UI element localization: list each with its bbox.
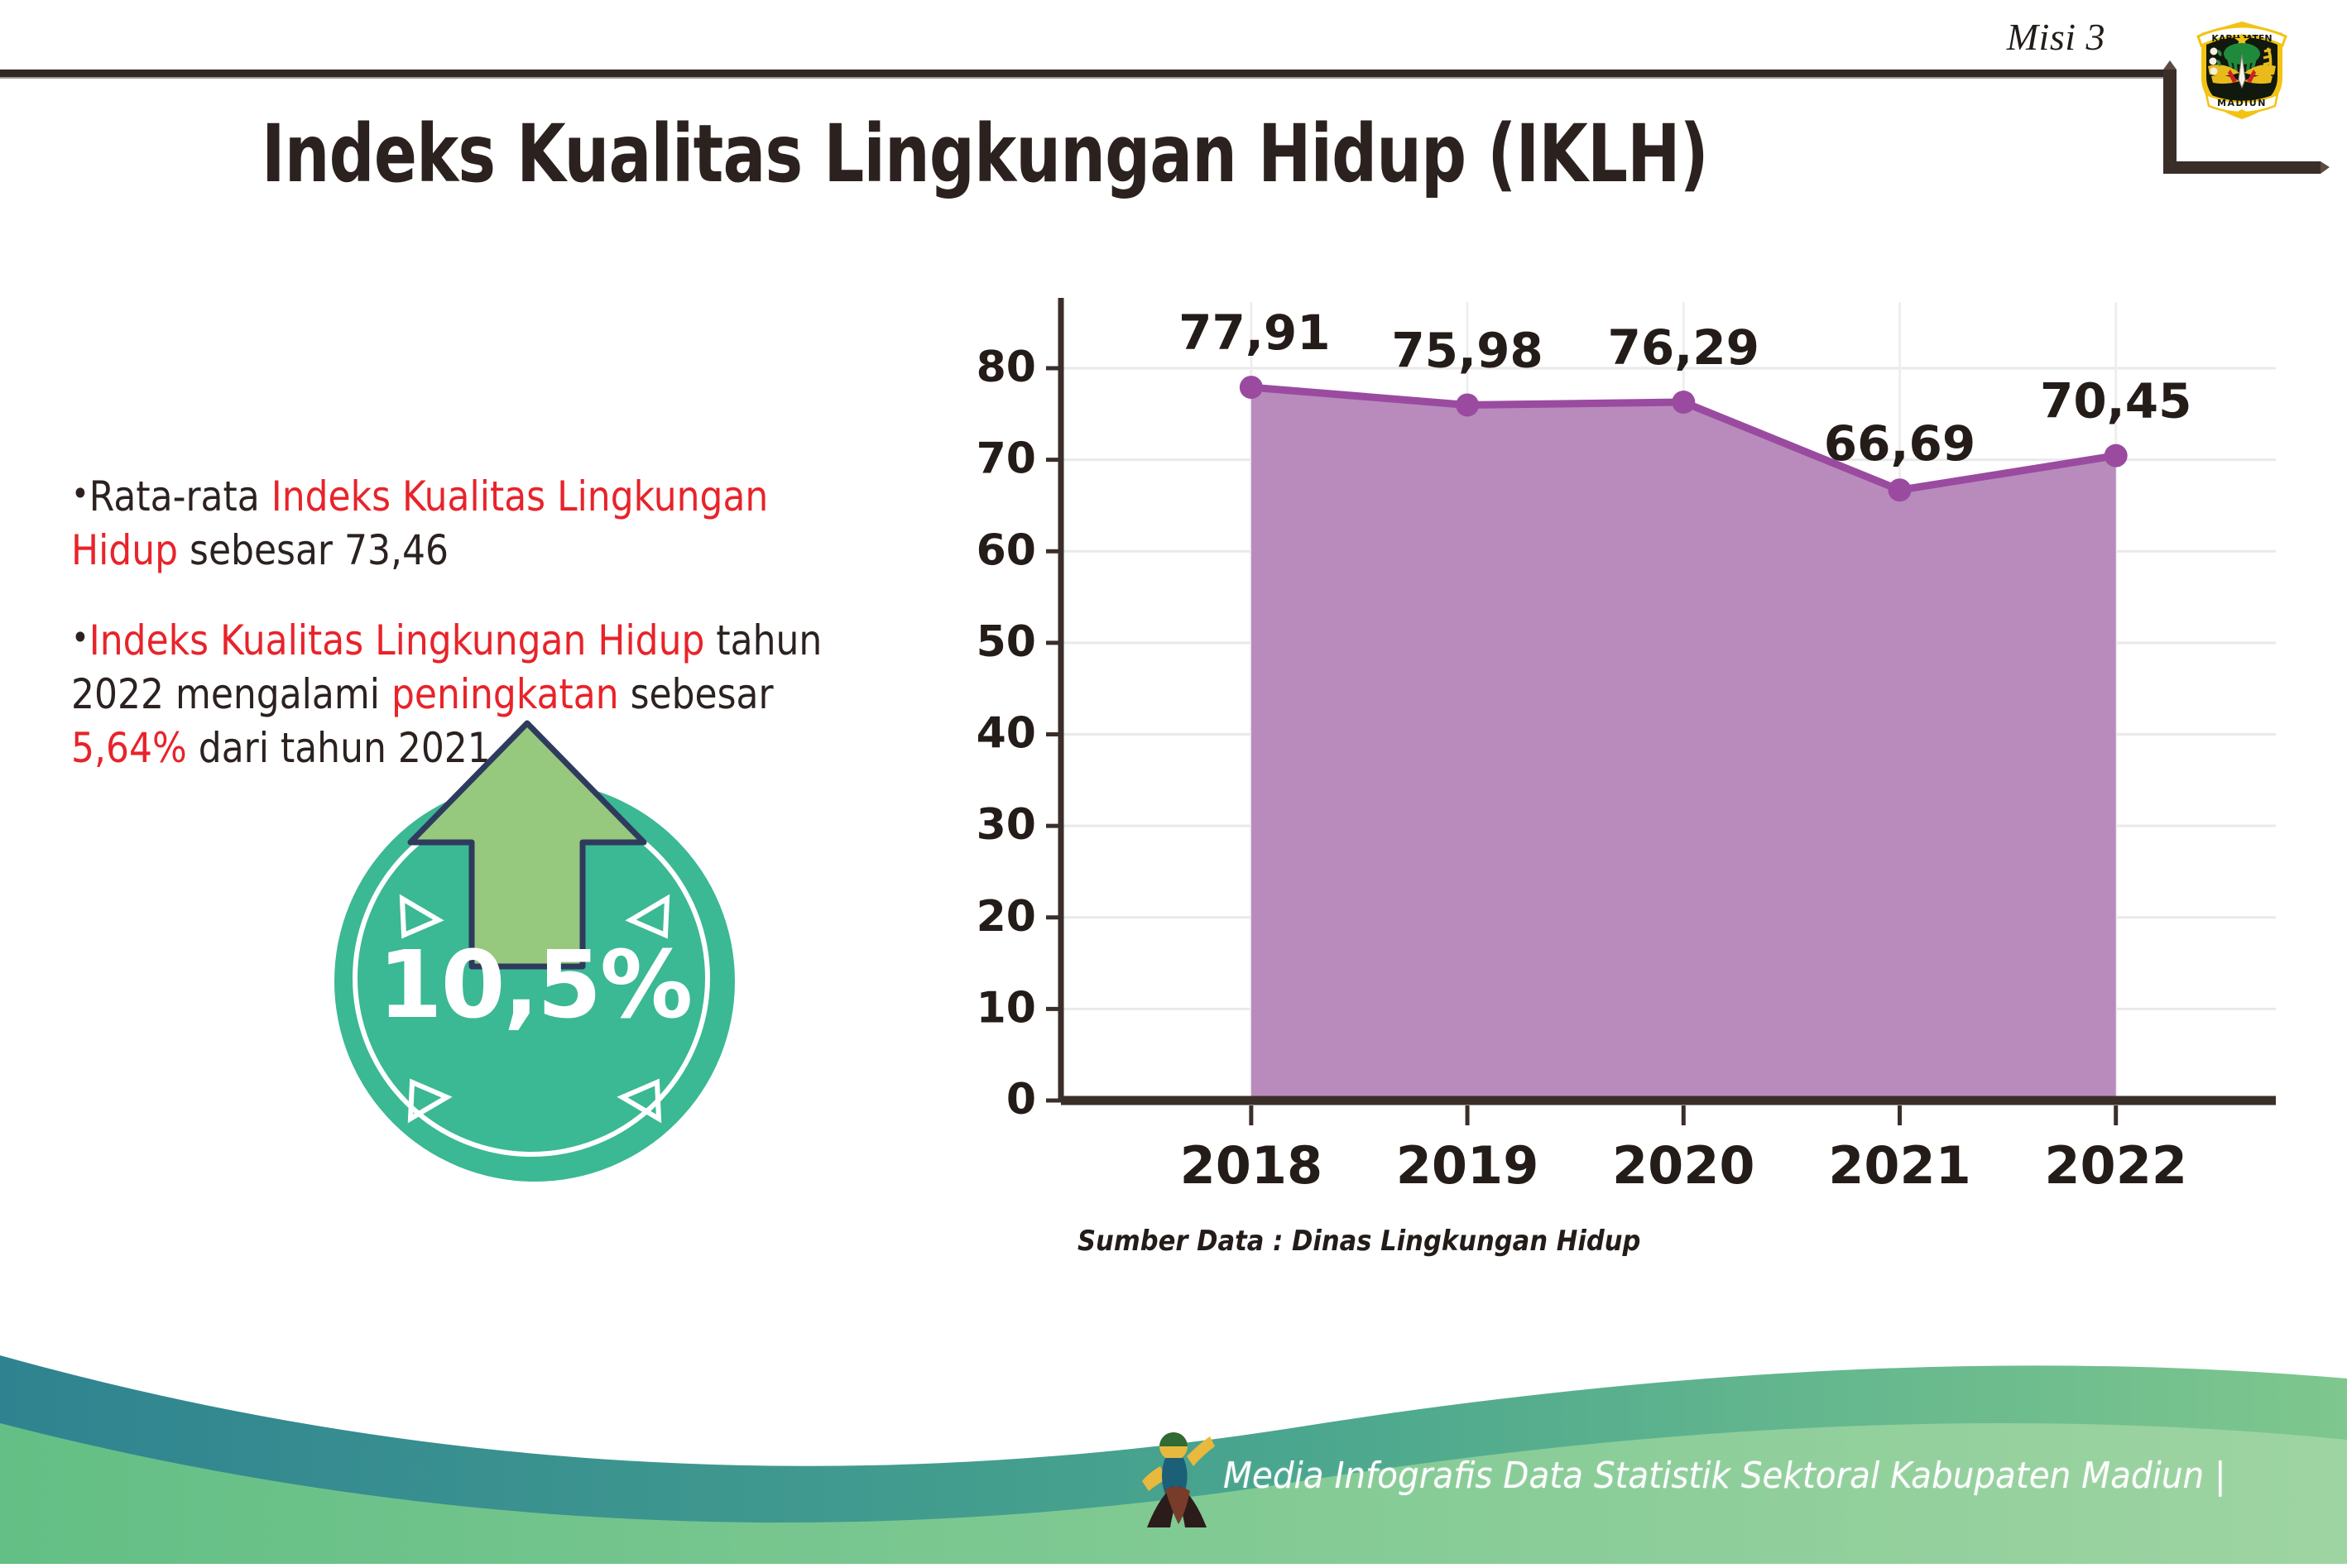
chart-data-point	[1456, 393, 1479, 416]
chart-x-tick-label: 2021	[1828, 1135, 1971, 1192]
chart-y-tick-labels: 01020304050607080	[977, 343, 1036, 1124]
bullet-segment-highlight: 5,64%	[71, 724, 187, 772]
misi-label: Misi 3	[2007, 15, 2105, 59]
chart-y-tick-label: 60	[977, 525, 1036, 575]
chart-data-point	[1888, 478, 1911, 501]
chart-value-label: 70,45	[2040, 373, 2191, 429]
chart-value-label: 76,29	[1608, 319, 1759, 376]
page-title: Indeks Kualitas Lingkungan Hidup (IKLH)	[197, 108, 1773, 200]
chart-x-tick-label: 2018	[1180, 1135, 1323, 1192]
chart-data-point	[1672, 391, 1695, 414]
chart-y-tick-label: 80	[977, 343, 1036, 392]
chart-x-tick-marks	[1251, 1105, 2116, 1125]
chart-source-note: Sumber Data : Dinas Lingkungan Hidup	[1078, 1225, 1640, 1258]
chart-value-label: 75,98	[1391, 322, 1543, 378]
logo-bracket-vertical	[2163, 70, 2177, 167]
media-infografis-figure-icon	[1140, 1418, 1217, 1534]
bullet-segment: Rata-rata	[89, 472, 271, 520]
chart-value-label: 77,91	[1178, 304, 1330, 361]
chart-y-tick-label: 40	[977, 709, 1036, 759]
badge-percent-value: 10,5%	[334, 932, 735, 1039]
bullet-segment: sebesar	[619, 670, 774, 718]
footer-caption: Media Infografis Data Statistik Sektoral…	[1223, 1455, 2226, 1497]
chart-data-point	[2105, 444, 2128, 468]
svg-text:MADIUN: MADIUN	[2217, 98, 2267, 108]
chart-y-tick-label: 30	[977, 800, 1036, 850]
chart-y-tick-label: 20	[977, 892, 1036, 942]
bullet-segment-highlight: Indeks Kualitas Lingkungan Hidup	[89, 616, 705, 664]
logo-bracket-horizontal	[2163, 161, 2321, 174]
chart-x-tick-label: 2019	[1396, 1135, 1539, 1192]
chart-x-tick-label: 2020	[1612, 1135, 1755, 1192]
increase-badge: 10,5%	[334, 781, 735, 1182]
chart-data-point	[1240, 376, 1263, 399]
chart-y-tick-label: 0	[1006, 1075, 1036, 1124]
chart-value-label: 66,69	[1824, 415, 1975, 472]
bullet-segment-highlight: peningkatan	[391, 670, 619, 718]
bullet-item: •Rata-rata Indeks Kualitas Lingkungan Hi…	[71, 470, 851, 578]
bullet-dot-icon: •	[71, 617, 89, 658]
kabupaten-madiun-emblem-icon: KABUPATEN MADIUN	[2191, 8, 2292, 124]
chart-y-tick-label: 70	[977, 434, 1036, 484]
chart-y-tick-label: 10	[977, 983, 1036, 1033]
chart-area-fill	[1251, 387, 2116, 1100]
chart-x-tick-labels: 20182019202020212022	[1180, 1135, 2187, 1192]
header-divider-rule	[0, 70, 2168, 79]
iklh-area-chart: 01020304050607080 20182019202020212022 7…	[952, 273, 2276, 1192]
chart-x-tick-label: 2022	[2044, 1135, 2187, 1192]
chart-y-tick-label: 50	[977, 617, 1036, 667]
bullet-segment: sebesar 73,46	[178, 526, 449, 574]
bullet-dot-icon: •	[71, 473, 89, 514]
